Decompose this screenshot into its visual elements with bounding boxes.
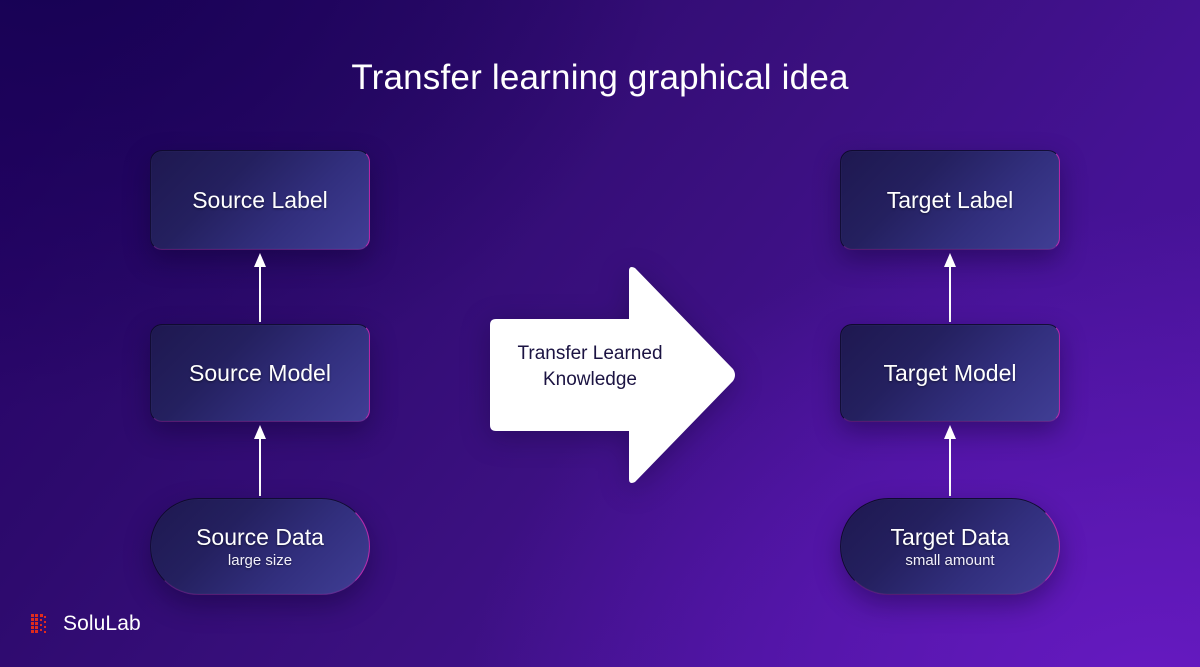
- transfer-arrow-label: Transfer Learned Knowledge: [492, 341, 688, 392]
- slide-canvas: Transfer learning graphical idea Source …: [0, 0, 1200, 667]
- node-source-data: Source Data large size: [150, 498, 370, 595]
- transfer-arrow-line2: Knowledge: [543, 369, 637, 390]
- brand-logo: SoluLab: [30, 612, 141, 636]
- solulab-mark-icon: [30, 612, 54, 636]
- node-sublabel: small amount: [905, 552, 994, 569]
- node-label: Source Data: [196, 524, 324, 550]
- connector-source-data-to-model: [249, 424, 271, 496]
- node-label: Source Label: [192, 187, 328, 213]
- node-sublabel: large size: [228, 552, 292, 569]
- node-target-data: Target Data small amount: [840, 498, 1060, 595]
- node-label: Target Label: [887, 187, 1014, 213]
- page-title: Transfer learning graphical idea: [0, 58, 1200, 98]
- node-target-label: Target Label: [840, 150, 1060, 250]
- node-target-model: Target Model: [840, 324, 1060, 422]
- connector-target-model-to-label: [939, 252, 961, 322]
- transfer-arrow-line1: Transfer Learned: [517, 343, 662, 364]
- connector-target-data-to-model: [939, 424, 961, 496]
- connector-source-model-to-label: [249, 252, 271, 322]
- node-label: Target Data: [891, 524, 1010, 550]
- node-source-label: Source Label: [150, 150, 370, 250]
- node-label: Target Model: [884, 360, 1017, 386]
- node-label: Source Model: [189, 360, 331, 386]
- brand-name: SoluLab: [63, 612, 141, 636]
- transfer-knowledge-arrow: Transfer Learned Knowledge: [484, 265, 736, 485]
- node-source-model: Source Model: [150, 324, 370, 422]
